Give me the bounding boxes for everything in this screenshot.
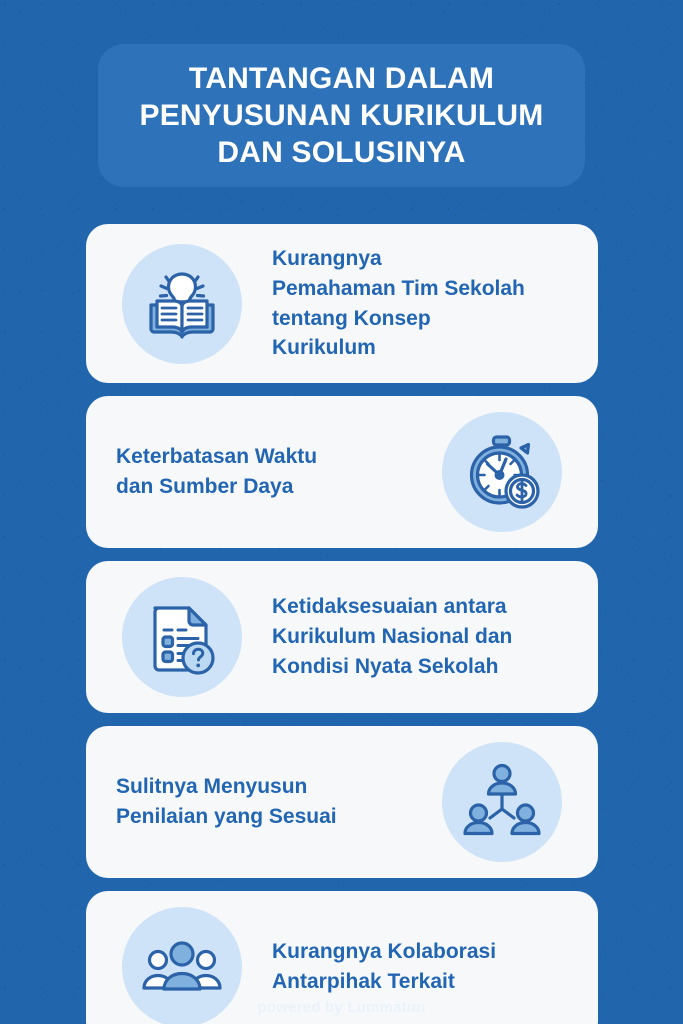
challenge-card-1[interactable]: Kurangnya Pemahaman Tim Sekolah tentang …	[86, 224, 598, 383]
challenge-card-3-label: Ketidaksesuaian antara Kurikulum Nasiona…	[250, 592, 598, 681]
challenge-card-4-label: Sulitnya Menyusun Penilaian yang Sesuai	[86, 772, 434, 832]
challenge-card-3[interactable]: Ketidaksesuaian antara Kurikulum Nasiona…	[86, 561, 598, 713]
title-banner: TANTANGAN DALAM PENYUSUNAN KURIKULUM DAN…	[98, 44, 585, 187]
page-title: TANTANGAN DALAM PENYUSUNAN KURIKULUM DAN…	[127, 60, 555, 172]
challenge-card-2-label: Keterbatasan Waktu dan Sumber Daya	[86, 442, 434, 502]
challenge-card-2[interactable]: Keterbatasan Waktu dan Sumber Daya	[86, 396, 598, 548]
document-question-icon	[122, 577, 242, 697]
lightbulb-book-icon	[122, 244, 242, 364]
challenge-card-1-label: Kurangnya Pemahaman Tim Sekolah tentang …	[250, 244, 598, 363]
footer-credit: powered by Lummatun	[0, 999, 683, 1016]
stopwatch-money-icon	[442, 412, 562, 532]
infographic-page: TANTANGAN DALAM PENYUSUNAN KURIKULUM DAN…	[0, 0, 683, 1024]
challenge-card-5-label: Kurangnya Kolaborasi Antarpihak Terkait	[250, 937, 598, 997]
challenge-card-4[interactable]: Sulitnya Menyusun Penilaian yang Sesuai	[86, 726, 598, 878]
team-network-icon	[442, 742, 562, 862]
